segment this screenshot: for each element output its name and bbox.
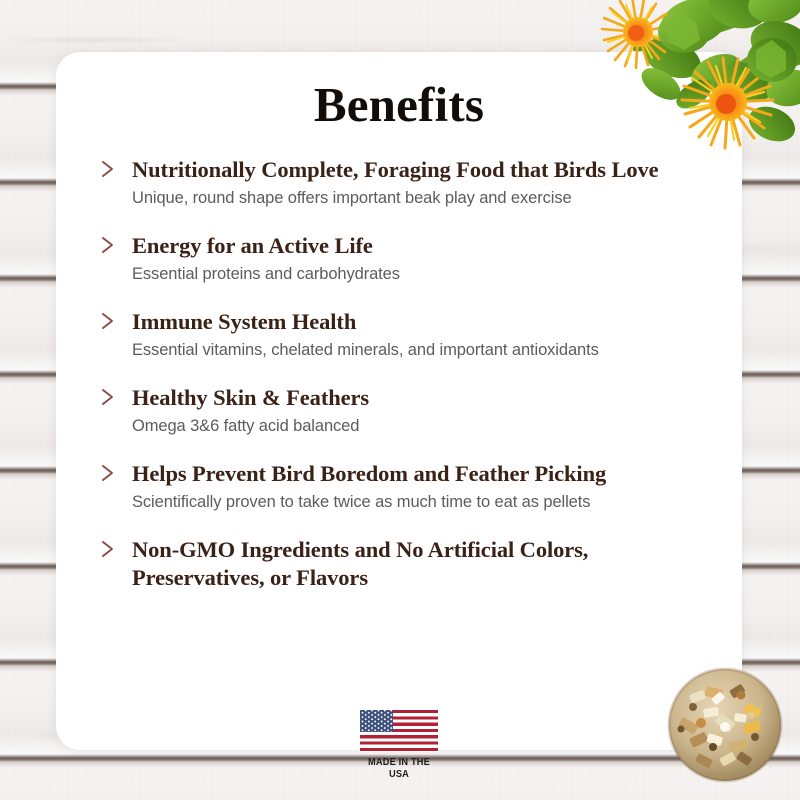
list-item: Healthy Skin & Feathers Omega 3&6 fatty …	[96, 384, 712, 437]
benefit-subtext: Essential vitamins, chelated minerals, a…	[132, 340, 712, 361]
benefit-heading: Immune System Health	[132, 308, 712, 336]
benefit-heading: Energy for an Active Life	[132, 232, 712, 260]
chevron-right-icon	[99, 539, 117, 559]
list-item: Non-GMO Ingredients and No Artificial Co…	[96, 536, 712, 592]
benefit-heading: Healthy Skin & Feathers	[132, 384, 712, 412]
chevron-right-icon	[99, 311, 117, 331]
benefit-subtext: Scientifically proven to take twice as m…	[132, 492, 712, 513]
list-item: Helps Prevent Bird Boredom and Feather P…	[96, 460, 712, 513]
benefit-subtext: Omega 3&6 fatty acid balanced	[132, 416, 712, 437]
chevron-right-icon	[99, 235, 117, 255]
usa-flag-icon	[360, 710, 438, 751]
chevron-right-icon	[99, 159, 117, 179]
list-item: Immune System Health Essential vitamins,…	[96, 308, 712, 361]
made-in-usa-badge: MADE IN THE USA	[353, 710, 445, 780]
flag-canton	[360, 710, 393, 732]
benefit-subtext: Unique, round shape offers important bea…	[132, 188, 712, 209]
safflower-blossoms-image	[576, 0, 800, 164]
benefit-heading: Helps Prevent Bird Boredom and Feather P…	[132, 460, 712, 488]
flag-stars	[360, 710, 393, 732]
made-in-usa-label: MADE IN THE USA	[359, 756, 440, 780]
benefit-heading: Non-GMO Ingredients and No Artificial Co…	[132, 536, 652, 592]
benefits-list: Nutritionally Complete, Foraging Food th…	[96, 156, 712, 615]
chevron-right-icon	[99, 463, 117, 483]
foraging-food-ball-image	[655, 655, 795, 795]
chevron-right-icon	[99, 387, 117, 407]
screenshot-root: Benefits Nutritionally Complete, Foragin…	[0, 0, 800, 800]
list-item: Energy for an Active Life Essential prot…	[96, 232, 712, 285]
benefit-subtext: Essential proteins and carbohydrates	[132, 264, 712, 285]
